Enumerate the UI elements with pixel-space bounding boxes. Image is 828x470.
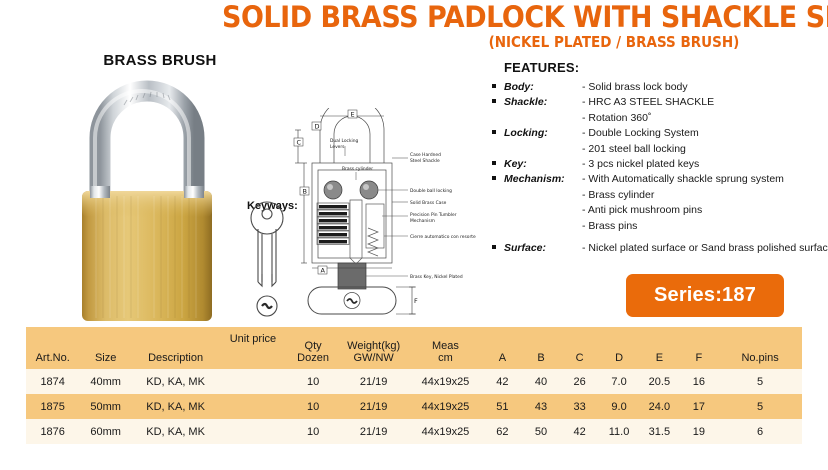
svg-text:Brass cylinder: Brass cylinder (342, 166, 373, 172)
cell-art-no: 1875 (26, 394, 79, 419)
features-section: FEATURES: Body: - Solid brass lock body … (492, 60, 828, 256)
svg-text:F: F (414, 297, 418, 305)
table-row: 1876 60mm KD, KA, MK 10 21/19 44x19x25 6… (26, 419, 802, 444)
series-badge-label: Series:187 (654, 284, 756, 307)
feature-row: - Brass pins (492, 219, 828, 234)
svg-text:Cierre automatico con resorte: Cierre automatico con resorte (410, 234, 476, 240)
cell-no-pins: 5 (718, 369, 802, 394)
page-title: SOLID BRASS PADLOCK WITH SHACKLE SPRUNG … (200, 2, 828, 52)
cell-qty-dozen: 10 (287, 369, 340, 394)
bullet-spacer (492, 111, 504, 115)
cell-qty-dozen: 10 (287, 419, 340, 444)
svg-text:Double ball locking: Double ball locking (410, 188, 452, 194)
column-header-art-no: Art.No. (26, 327, 79, 369)
cell-e: 31.5 (639, 419, 679, 444)
cell-f: 19 (680, 419, 719, 444)
cell-meas: 44x19x25 (408, 369, 483, 394)
weight-line2: GW/NW (340, 352, 408, 364)
keyway-bottom-view: F (302, 282, 442, 320)
feature-value: - With Automatically shackle sprung syst… (582, 172, 784, 187)
cell-description: KD, KA, MK (132, 394, 219, 419)
weight-line1: Weight(kg) (340, 340, 408, 352)
svg-text:Levers: Levers (330, 144, 345, 150)
column-header-description: Description (132, 327, 219, 369)
cell-a: 51 (483, 394, 522, 419)
padlock-photo (62, 78, 262, 323)
meas-line2: cm (408, 352, 483, 364)
bullet-square-icon (492, 80, 504, 88)
cell-d: 9.0 (599, 394, 639, 419)
bullet-spacer (492, 203, 504, 207)
feature-value: - Anti pick mushroom pins (582, 203, 702, 218)
cell-qty-dozen: 10 (287, 394, 340, 419)
column-header-meas: Meas cm (408, 327, 483, 369)
title-main: SOLID BRASS PADLOCK WITH SHACKLE SPRUNG (222, 2, 806, 32)
feature-key: Mechanism: (504, 172, 582, 187)
cell-b: 50 (522, 419, 561, 444)
svg-text:Brass Key, Nickel Plated: Brass Key, Nickel Plated (410, 274, 463, 280)
cell-art-no: 1876 (26, 419, 79, 444)
cell-no-pins: 6 (718, 419, 802, 444)
cell-c: 42 (560, 419, 599, 444)
cross-section-diagram: A B C D E Case Hardned Steel Shackle Dou… (290, 108, 495, 293)
svg-text:Case Hardned: Case Hardned (410, 152, 441, 158)
cell-a: 62 (483, 419, 522, 444)
column-header-unit-price: Unit price (219, 327, 286, 369)
svg-text:B: B (303, 187, 307, 195)
cell-weight: 21/19 (340, 369, 408, 394)
cell-f: 17 (680, 394, 719, 419)
feature-value: - Rotation 360˚ (582, 111, 651, 126)
column-header-a: A (483, 327, 522, 369)
svg-text:C: C (297, 138, 302, 146)
cell-unit-price (219, 394, 286, 419)
cell-size: 60mm (79, 419, 132, 444)
feature-value: - Brass pins (582, 219, 637, 234)
feature-row: - 201 steel ball locking (492, 142, 828, 157)
cell-unit-price (219, 419, 286, 444)
feature-row: Key: - 3 pcs nickel plated keys (492, 157, 828, 172)
bullet-square-icon (492, 241, 504, 249)
svg-text:Steel Shackle: Steel Shackle (410, 158, 440, 164)
feature-key: Key: (504, 157, 582, 172)
bullet-square-icon (492, 126, 504, 134)
cell-unit-price (219, 369, 286, 394)
feature-value: - Solid brass lock body (582, 80, 688, 95)
cell-c: 33 (560, 394, 599, 419)
feature-row: - Brass cylinder (492, 188, 828, 203)
feature-value: - Double Locking System (582, 126, 699, 141)
feature-row: Shackle: - HRC A3 STEEL SHACKLE (492, 95, 828, 110)
feature-key: Shackle: (504, 95, 582, 110)
bullet-spacer (492, 219, 504, 223)
cell-d: 11.0 (599, 419, 639, 444)
meas-line1: Meas (408, 340, 483, 352)
column-header-no-pins: No.pins (718, 327, 802, 369)
bullet-square-icon (492, 95, 504, 103)
bullet-square-icon (492, 157, 504, 165)
feature-row: Mechanism: - With Automatically shackle … (492, 172, 828, 187)
cell-size: 40mm (79, 369, 132, 394)
svg-text:A: A (321, 266, 326, 274)
cell-c: 26 (560, 369, 599, 394)
svg-text:Precision Pin Tumbler: Precision Pin Tumbler (410, 212, 457, 218)
feature-row: Body: - Solid brass lock body (492, 80, 828, 95)
table-header-row: Art.No. Size Description Unit price Qty … (26, 327, 802, 369)
cell-f: 16 (680, 369, 719, 394)
qty-line1: Qty (287, 340, 340, 352)
product-image-caption: BRASS BRUSH (60, 52, 260, 69)
column-header-size: Size (79, 327, 132, 369)
column-header-d: D (599, 327, 639, 369)
cell-d: 7.0 (599, 369, 639, 394)
specifications-table: Art.No. Size Description Unit price Qty … (26, 327, 802, 444)
cell-size: 50mm (79, 394, 132, 419)
cell-art-no: 1874 (26, 369, 79, 394)
feature-key: Body: (504, 80, 582, 95)
cell-e: 20.5 (639, 369, 679, 394)
feature-row: - Anti pick mushroom pins (492, 203, 828, 218)
qty-line2: Dozen (287, 352, 340, 364)
column-header-f: F (680, 327, 719, 369)
cell-b: 43 (522, 394, 561, 419)
bullet-square-icon (492, 172, 504, 180)
svg-text:Dual Locking: Dual Locking (330, 138, 358, 144)
table-row: 1874 40mm KD, KA, MK 10 21/19 44x19x25 4… (26, 369, 802, 394)
column-header-qty-dozen: Qty Dozen (287, 327, 340, 369)
cell-description: KD, KA, MK (132, 419, 219, 444)
column-header-c: C (560, 327, 599, 369)
cell-description: KD, KA, MK (132, 369, 219, 394)
feature-value: - 201 steel ball locking (582, 142, 686, 157)
cell-e: 24.0 (639, 394, 679, 419)
column-header-weight: Weight(kg) GW/NW (340, 327, 408, 369)
cell-b: 40 (522, 369, 561, 394)
cell-meas: 44x19x25 (408, 419, 483, 444)
svg-text:D: D (315, 122, 320, 130)
feature-value: - 3 pcs nickel plated keys (582, 157, 699, 172)
feature-value: - Brass cylinder (582, 188, 654, 203)
feature-key: Surface: (504, 241, 582, 256)
feature-value: - HRC A3 STEEL SHACKLE (582, 95, 714, 110)
cell-a: 42 (483, 369, 522, 394)
table-row: 1875 50mm KD, KA, MK 10 21/19 44x19x25 5… (26, 394, 802, 419)
svg-text:Mechanism: Mechanism (410, 218, 435, 224)
title-subtitle: (NICKEL PLATED / BRASS BRUSH) (246, 32, 811, 52)
feature-value: - Nickel plated surface or Sand brass po… (582, 241, 828, 256)
feature-row: Surface: - Nickel plated surface or Sand… (492, 241, 828, 256)
feature-row: - Rotation 360˚ (492, 111, 828, 126)
feature-key: Locking: (504, 126, 582, 141)
feature-row: Locking: - Double Locking System (492, 126, 828, 141)
features-heading: FEATURES: (504, 60, 828, 75)
cell-weight: 21/19 (340, 419, 408, 444)
bullet-spacer (492, 188, 504, 192)
series-badge: Series:187 (626, 274, 784, 317)
svg-text:Solid Brass Case: Solid Brass Case (410, 200, 447, 206)
column-header-e: E (639, 327, 679, 369)
product-spec-sheet: SOLID BRASS PADLOCK WITH SHACKLE SPRUNG … (0, 0, 828, 470)
svg-text:E: E (351, 110, 355, 118)
cell-meas: 44x19x25 (408, 394, 483, 419)
column-header-b: B (522, 327, 561, 369)
cell-no-pins: 5 (718, 394, 802, 419)
bullet-spacer (492, 142, 504, 146)
cell-weight: 21/19 (340, 394, 408, 419)
